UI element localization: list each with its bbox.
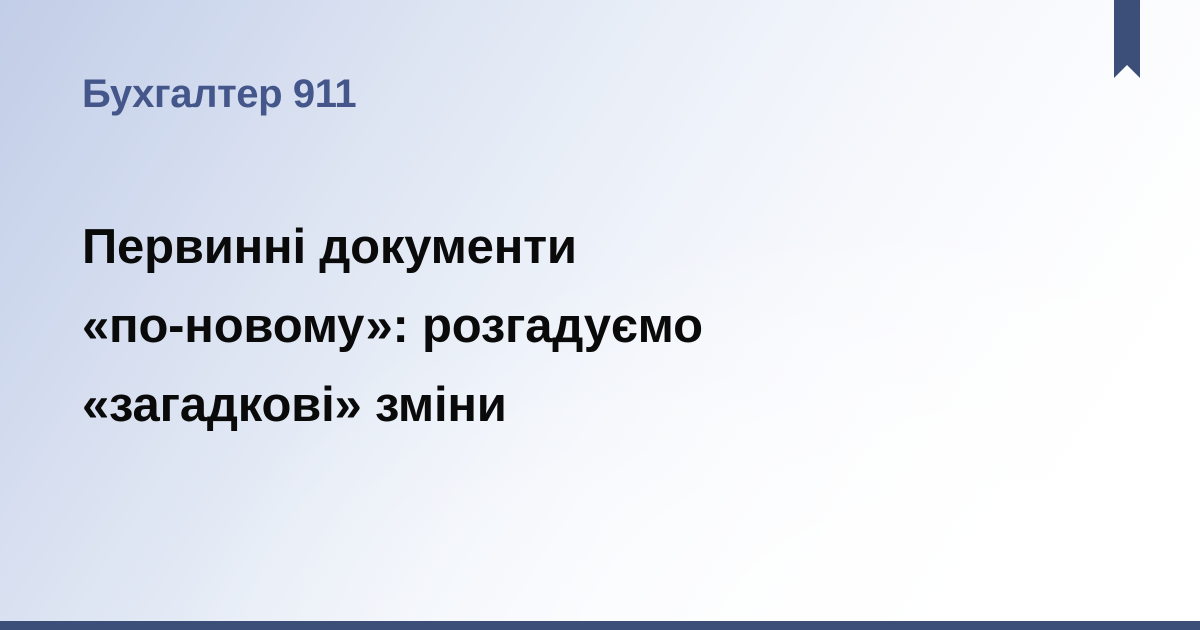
- bookmark-icon: [1114, 0, 1140, 78]
- bottom-accent-bar: [0, 621, 1200, 630]
- page-title: Первинні документи «по-новому»: розгадує…: [82, 208, 1032, 445]
- title-line-2: «по-новому»: розгадуємо: [82, 287, 1032, 366]
- brand-logo: Бухгалтер 911: [82, 70, 356, 118]
- title-line-3: «загадкові» зміни: [82, 366, 1032, 445]
- card-content: Бухгалтер 911 Первинні документи «по-нов…: [0, 0, 1200, 630]
- share-card: Бухгалтер 911 Первинні документи «по-нов…: [0, 0, 1200, 630]
- title-line-1: Первинні документи: [82, 208, 1032, 287]
